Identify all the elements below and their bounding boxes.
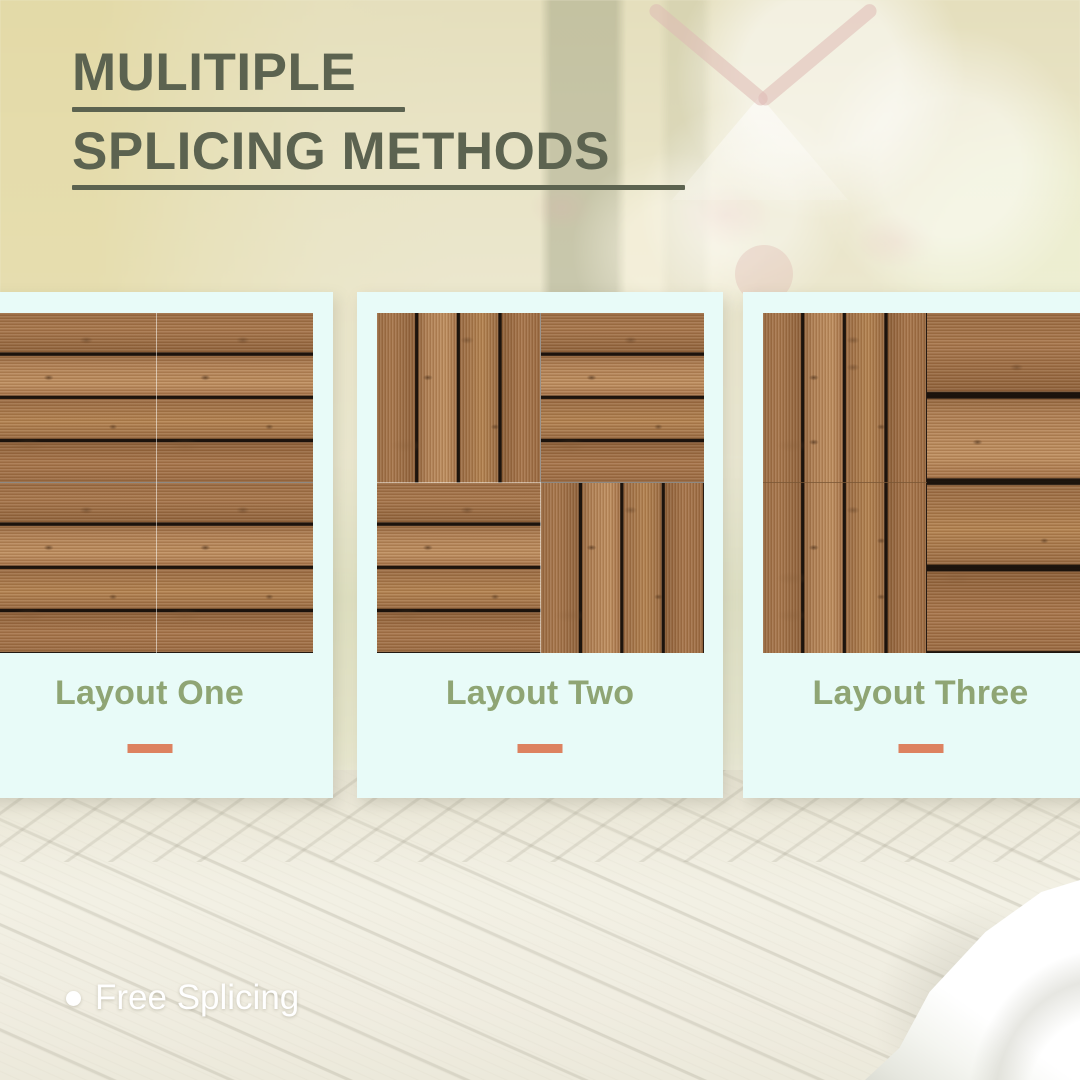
wood-tile bbox=[763, 313, 927, 483]
wood-tile-column-vertical bbox=[763, 313, 927, 653]
layout-card-two[interactable]: Layout Two bbox=[357, 292, 723, 798]
wood-tile bbox=[157, 483, 314, 653]
tile-grid-one bbox=[0, 313, 313, 653]
headline-text-2: SPLICING METHODS bbox=[72, 123, 772, 180]
wood-tile bbox=[377, 313, 541, 483]
layout-one-accent-dash bbox=[127, 744, 172, 753]
headline-line-2: SPLICING METHODS bbox=[72, 123, 772, 190]
headline-text-1: MULITIPLE bbox=[72, 44, 772, 101]
wood-tile bbox=[0, 483, 157, 653]
footer-feature-note: Free Splicing bbox=[66, 978, 299, 1018]
layout-three-label: Layout Three bbox=[743, 674, 1080, 713]
promo-image: MULITIPLE SPLICING METHODS Layout One bbox=[0, 0, 1080, 1080]
wood-tile bbox=[541, 313, 705, 483]
page-curl-corner bbox=[865, 880, 1080, 1080]
wood-tile bbox=[541, 483, 705, 653]
layout-two-tile-image bbox=[377, 313, 704, 653]
wood-tile bbox=[0, 313, 157, 483]
headline: MULITIPLE SPLICING METHODS bbox=[72, 44, 772, 190]
layout-one-tile-image bbox=[0, 313, 313, 653]
layout-one-label: Layout One bbox=[0, 674, 333, 713]
layout-three-accent-dash bbox=[898, 744, 943, 753]
tile-grid-three bbox=[763, 313, 1080, 653]
layout-two-label: Layout Two bbox=[357, 674, 723, 713]
wood-tile bbox=[157, 313, 314, 483]
vertical-tile-stack bbox=[763, 313, 927, 653]
layout-card-three[interactable]: Layout Three bbox=[743, 292, 1080, 798]
layout-two-accent-dash bbox=[518, 744, 563, 753]
wood-tile bbox=[763, 483, 927, 653]
wood-tile-column-horizontal bbox=[927, 313, 1080, 653]
wood-tile bbox=[377, 483, 541, 653]
headline-line-1: MULITIPLE bbox=[72, 44, 772, 112]
footer-feature-text: Free Splicing bbox=[95, 978, 299, 1018]
headline-underline-2 bbox=[72, 185, 685, 190]
layout-three-tile-image bbox=[763, 313, 1080, 653]
layout-card-one[interactable]: Layout One bbox=[0, 292, 333, 798]
tile-grid-two bbox=[377, 313, 704, 653]
headline-underline-1 bbox=[72, 107, 405, 112]
layout-card-list: Layout One Layout Two bbox=[0, 292, 1080, 798]
bullet-dot-icon bbox=[66, 991, 81, 1006]
